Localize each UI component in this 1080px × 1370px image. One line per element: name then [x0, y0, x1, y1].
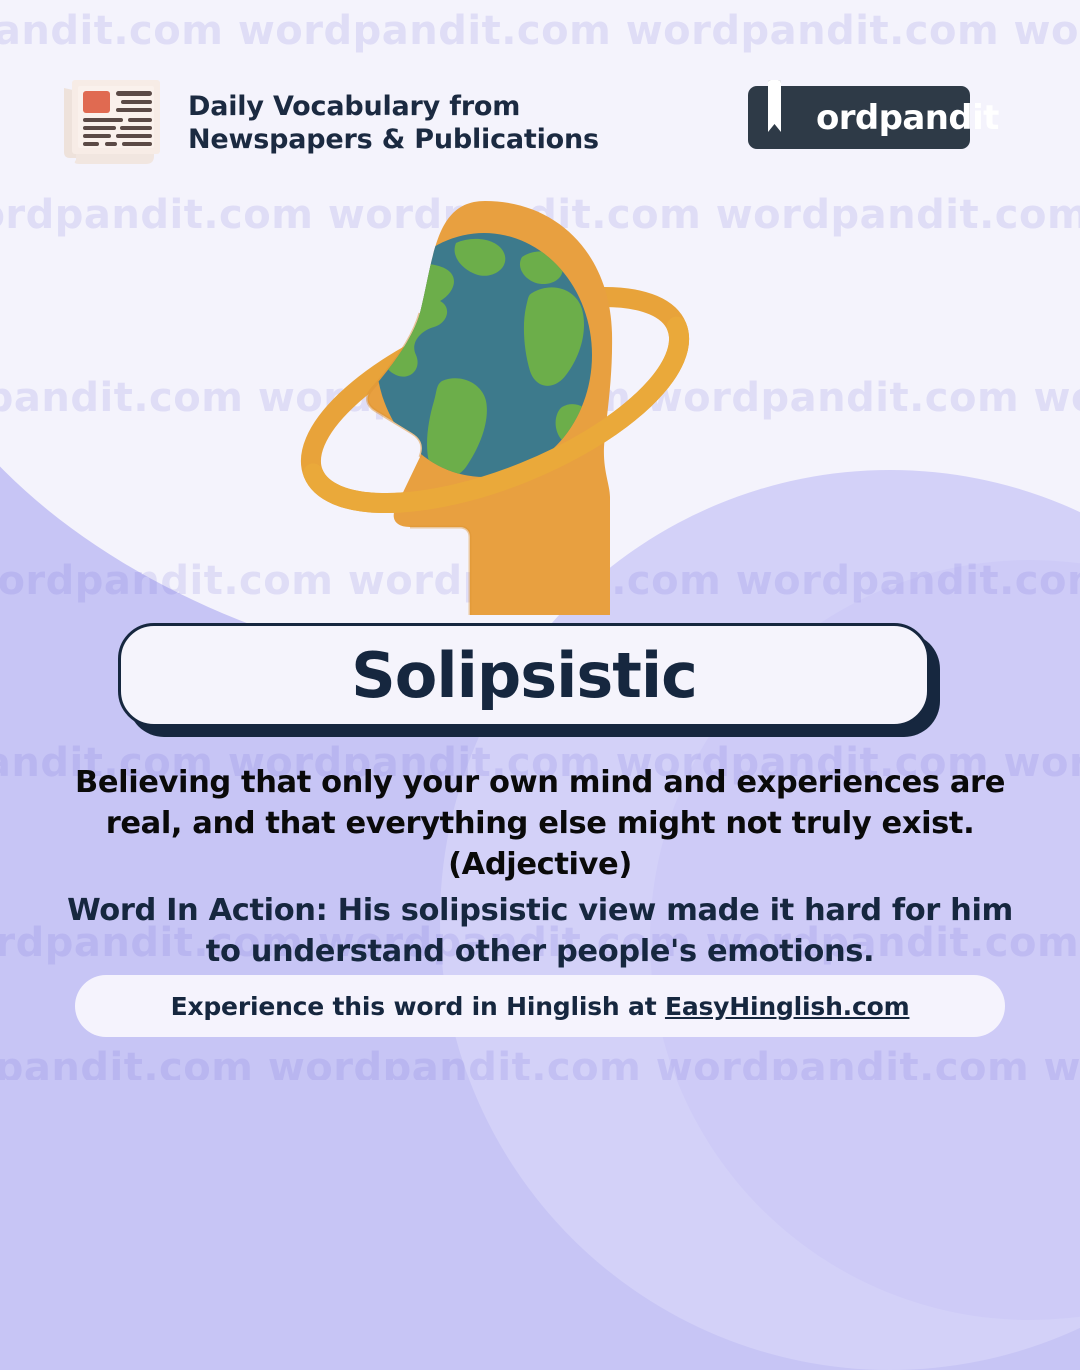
brand-title-line-1: Daily Vocabulary from — [188, 90, 599, 123]
head-with-globe-illustration — [270, 185, 720, 615]
wordpandit-logo[interactable]: ordpandit — [748, 86, 970, 149]
word-in-action-text: Word In Action: His solipsistic view mad… — [45, 890, 1035, 972]
word-in-action-line-1: Word In Action: His solipsistic view mad… — [45, 890, 1035, 931]
definition-line-1: Believing that only your own mind and ex… — [50, 762, 1030, 803]
easyhinglish-link[interactable]: EasyHinglish.com — [665, 992, 909, 1021]
header: Daily Vocabulary from Newspapers & Publi… — [0, 0, 1080, 180]
word-in-action-line-2: to understand other people's emotions. — [45, 931, 1035, 972]
logo-text: ordpandit — [816, 98, 999, 138]
part-of-speech: (Adjective) — [50, 844, 1030, 885]
vocabulary-word: Solipsistic — [351, 639, 697, 712]
page-title: Daily Vocabulary from Newspapers & Publi… — [188, 90, 599, 156]
brand-title-line-2: Newspapers & Publications — [188, 123, 599, 156]
definition-line-2: real, and that everything else might not… — [50, 803, 1030, 844]
hinglish-banner[interactable]: Experience this word in Hinglish at Easy… — [75, 975, 1005, 1037]
newspaper-icon — [58, 72, 170, 164]
word-card: Solipsistic — [118, 623, 930, 727]
definition-text: Believing that only your own mind and ex… — [50, 762, 1030, 885]
word-card-container: Solipsistic — [118, 623, 930, 727]
hinglish-banner-text: Experience this word in Hinglish at Easy… — [171, 992, 910, 1021]
hinglish-banner-prefix: Experience this word in Hinglish at — [171, 992, 665, 1021]
